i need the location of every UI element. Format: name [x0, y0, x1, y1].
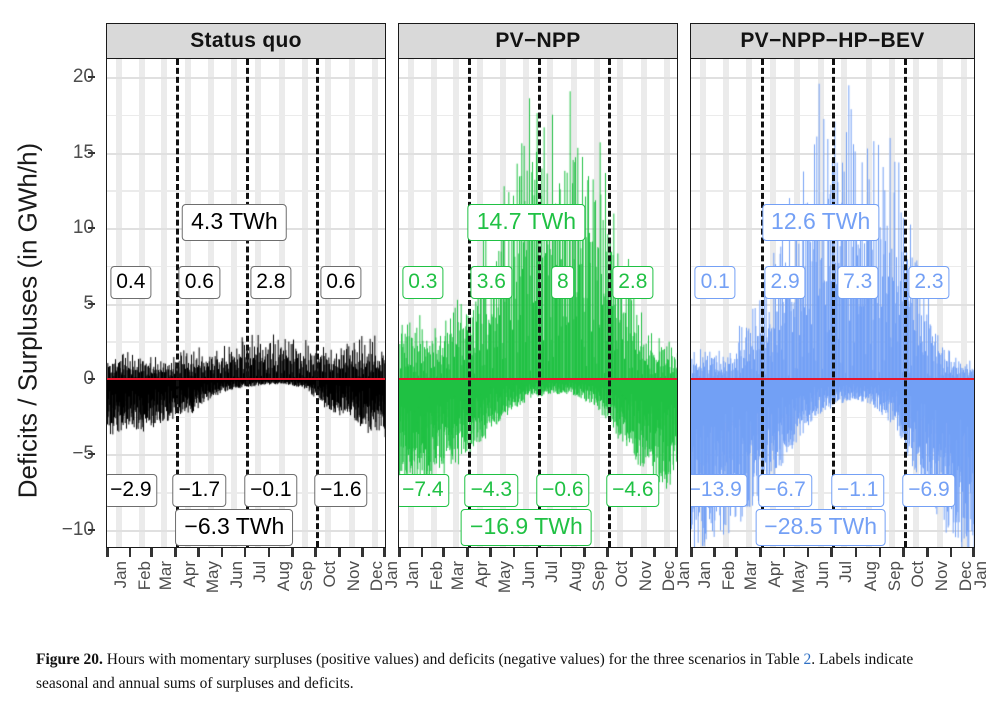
seasonal-deficit-label-2: −4.3 — [465, 474, 518, 507]
x-axis-tick-mark — [489, 548, 492, 557]
x-axis-tick-label: Jul — [250, 561, 270, 583]
seasonal-deficit-label-2: −1.7 — [173, 474, 226, 507]
annual-deficit-label: −16.9 TWh — [461, 509, 592, 546]
x-axis-tick-mark — [606, 548, 609, 557]
x-axis-tick-label: Nov — [636, 561, 656, 591]
seasonal-surplus-label-3: 2.8 — [250, 266, 291, 299]
seasonal-surplus-label-1: 0.4 — [110, 266, 151, 299]
x-axis-tick-label: Sep — [297, 561, 317, 591]
seasonal-surplus-label-2: 2.9 — [764, 266, 805, 299]
x-axis-1: JanFebMarAprMayJunJulAugSepOctNovDecJan — [106, 548, 386, 628]
x-axis-3: JanFebMarAprMayJunJulAugSepOctNovDecJan — [690, 548, 975, 628]
x-axis-tick-label: Feb — [135, 561, 155, 590]
x-axis-tick-mark — [197, 548, 200, 557]
seasonal-surplus-label-2: 0.6 — [179, 266, 220, 299]
x-axis-tick-label: Mar — [156, 561, 176, 590]
x-axis-tick-mark — [268, 548, 271, 557]
x-axis-tick-label: Aug — [566, 561, 586, 591]
x-axis-tick-label: Aug — [861, 561, 881, 591]
seasonal-deficit-label-4: −6.9 — [902, 474, 955, 507]
x-axis-tick-label: Jan — [111, 561, 131, 588]
annual-surplus-label: 4.3 TWh — [182, 204, 287, 241]
y-axis-tick-label: 10 — [40, 217, 94, 239]
x-axis-tick-label: Nov — [932, 561, 952, 591]
annual-deficit-label: −6.3 TWh — [175, 509, 293, 546]
y-axis-tick-label: −10 — [40, 519, 94, 541]
x-axis-tick-mark — [361, 548, 364, 557]
x-axis-tick-label: Jun — [519, 561, 539, 588]
seasonal-surplus-label-4: 2.3 — [908, 266, 949, 299]
x-axis-tick-label: Jun — [227, 561, 247, 588]
x-axis-tick-label: Oct — [612, 561, 632, 587]
x-axis-tick-mark — [291, 548, 294, 557]
x-axis-tick-mark — [129, 548, 132, 557]
panel-title: PV−NPP — [495, 29, 580, 53]
x-axis-tick-label: Apr — [180, 561, 200, 587]
facet-panel-2: PV−NPP14.7 TWh−16.9 TWh0.33.682.8−7.4−4.… — [398, 23, 678, 548]
x-axis-tick-mark — [536, 548, 539, 557]
x-axis-tick-mark — [675, 548, 678, 557]
x-axis-tick-mark — [713, 548, 716, 557]
x-axis-tick-mark — [759, 548, 762, 557]
facet-panel-1: Status quo4.3 TWh−6.3 TWh0.40.62.80.6−2.… — [106, 23, 386, 548]
x-axis-tick-mark — [150, 548, 153, 557]
seasonal-surplus-label-3: 7.3 — [837, 266, 878, 299]
x-axis-tick-label: Mar — [448, 561, 468, 590]
x-axis-tick-mark — [855, 548, 858, 557]
seasonal-surplus-label-4: 0.6 — [320, 266, 361, 299]
y-axis-tick-label: 0 — [40, 368, 94, 390]
seasonal-deficit-label-1: −13.9 — [690, 474, 748, 507]
x-axis-tick-label: Apr — [472, 561, 492, 587]
x-axis-tick-label: Sep — [589, 561, 609, 591]
x-axis-tick-mark — [466, 548, 469, 557]
panel-plot-area: 12.6 TWh−28.5 TWh0.12.97.32.3−13.9−6.7−1… — [690, 59, 975, 548]
x-axis-tick-mark — [807, 548, 810, 557]
panel-title-strip: Status quo — [106, 23, 386, 59]
y-axis-tick-label: 15 — [40, 142, 94, 164]
seasonal-deficit-label-4: −4.6 — [606, 474, 659, 507]
seasonal-surplus-label-2: 3.6 — [471, 266, 512, 299]
x-axis-tick-mark — [830, 548, 833, 557]
seasonal-deficit-label-2: −6.7 — [758, 474, 811, 507]
x-axis-tick-mark — [398, 548, 401, 557]
facet-panel-3: PV−NPP−HP−BEV12.6 TWh−28.5 TWh0.12.97.32… — [690, 23, 975, 548]
y-axis-tick-mark — [88, 529, 95, 531]
seasonal-surplus-label-1: 0.1 — [695, 266, 736, 299]
figure-caption: Figure 20. Hours with momentary surpluse… — [36, 648, 956, 696]
x-axis-tick-label: May — [495, 561, 515, 593]
x-axis-tick-mark — [338, 548, 341, 557]
y-axis-tick-label: 20 — [40, 66, 94, 88]
x-axis-tick-mark — [383, 548, 386, 557]
x-axis-tick-label: Feb — [427, 561, 447, 590]
x-axis-tick-label: May — [789, 561, 809, 593]
x-axis-tick-label: Mar — [741, 561, 761, 590]
x-axis-tick-mark — [174, 548, 177, 557]
x-axis-tick-mark — [783, 548, 786, 557]
y-axis-tick-mark — [88, 76, 95, 78]
x-axis-tick-mark — [221, 548, 224, 557]
caption-text-1: Hours with momentary surpluses (positive… — [103, 651, 804, 668]
x-axis-tick-mark — [735, 548, 738, 557]
zero-reference-line — [399, 378, 677, 381]
x-axis-tick-mark — [950, 548, 953, 557]
x-axis-tick-mark — [926, 548, 929, 557]
x-axis-tick-mark — [314, 548, 317, 557]
x-axis-tick-mark — [442, 548, 445, 557]
x-axis-tick-mark — [106, 548, 109, 557]
caption-label: Figure 20. — [36, 651, 103, 668]
x-axis-tick-label: Oct — [320, 561, 340, 587]
seasonal-deficit-label-4: −1.6 — [314, 474, 367, 507]
panel-plot-area: 14.7 TWh−16.9 TWh0.33.682.8−7.4−4.3−0.6−… — [398, 59, 678, 548]
seasonal-surplus-label-3: 8 — [551, 266, 575, 299]
x-axis-tick-label: Jan — [971, 561, 987, 588]
seasonal-surplus-label-1: 0.3 — [402, 266, 443, 299]
x-axis-tick-mark — [630, 548, 633, 557]
x-axis-tick-mark — [560, 548, 563, 557]
panel-title: PV−NPP−HP−BEV — [740, 29, 924, 53]
x-axis-tick-mark — [583, 548, 586, 557]
x-axis-tick-mark — [513, 548, 516, 557]
y-axis: 20151050−5−10 — [32, 0, 94, 721]
y-axis-tick-mark — [88, 152, 95, 154]
y-axis-tick-mark — [88, 378, 95, 380]
x-axis-tick-label: Apr — [765, 561, 785, 587]
x-axis-tick-label: Feb — [719, 561, 739, 590]
x-axis-tick-label: Jul — [836, 561, 856, 583]
panel-title: Status quo — [190, 29, 302, 53]
y-axis-tick-mark — [88, 453, 95, 455]
annual-surplus-label: 12.6 TWh — [762, 204, 879, 241]
annual-deficit-label: −28.5 TWh — [755, 509, 886, 546]
seasonal-deficit-label-1: −2.9 — [106, 474, 158, 507]
zero-reference-line — [691, 378, 974, 381]
x-axis-tick-mark — [421, 548, 424, 557]
x-axis-tick-mark — [653, 548, 656, 557]
y-axis-tick-mark — [88, 303, 95, 305]
x-axis-tick-label: Nov — [344, 561, 364, 591]
x-axis-tick-label: Sep — [885, 561, 905, 591]
seasonal-deficit-label-3: −0.6 — [536, 474, 589, 507]
seasonal-deficit-label-3: −1.1 — [831, 474, 884, 507]
x-axis-tick-label: Jun — [813, 561, 833, 588]
figure-container: Deficits / Surpluses (in GWh/h) 20151050… — [0, 0, 987, 721]
seasonal-surplus-label-4: 2.8 — [612, 266, 653, 299]
annual-surplus-label: 14.7 TWh — [468, 204, 585, 241]
x-axis-tick-label: May — [203, 561, 223, 593]
y-axis-tick-label: −5 — [40, 443, 94, 465]
x-axis-tick-mark — [879, 548, 882, 557]
panel-plot-area: 4.3 TWh−6.3 TWh0.40.62.80.6−2.9−1.7−0.1−… — [106, 59, 386, 548]
x-axis-tick-label: Jan — [403, 561, 423, 588]
seasonal-deficit-label-1: −7.4 — [398, 474, 450, 507]
seasonal-deficit-label-3: −0.1 — [244, 474, 297, 507]
x-axis-tick-mark — [902, 548, 905, 557]
x-axis-tick-mark — [690, 548, 693, 557]
x-axis-tick-mark — [972, 548, 975, 557]
x-axis-tick-mark — [244, 548, 247, 557]
zero-reference-line — [107, 378, 385, 381]
x-axis-tick-label: Jul — [542, 561, 562, 583]
y-axis-tick-label: 5 — [40, 293, 94, 315]
x-axis-tick-label: Aug — [274, 561, 294, 591]
x-axis-tick-label: Jan — [695, 561, 715, 588]
x-axis-2: JanFebMarAprMayJunJulAugSepOctNovDecJan — [398, 548, 678, 628]
y-axis-tick-mark — [88, 227, 95, 229]
panel-title-strip: PV−NPP−HP−BEV — [690, 23, 975, 59]
panel-title-strip: PV−NPP — [398, 23, 678, 59]
x-axis-tick-label: Oct — [908, 561, 928, 587]
